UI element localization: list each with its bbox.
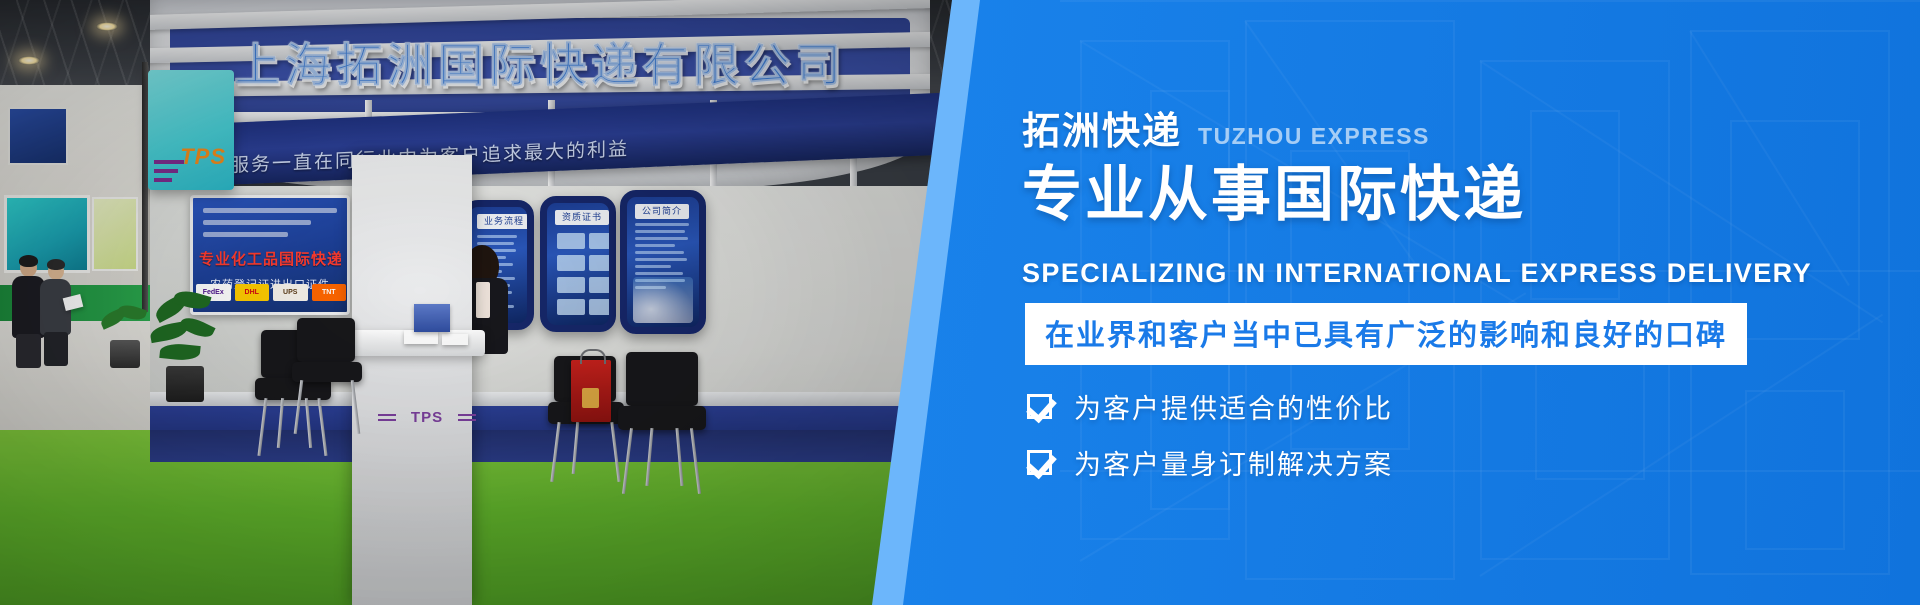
bullet-label: 为客户提供适合的性价比: [1074, 387, 1393, 426]
poster-title: 资质证书: [555, 210, 609, 225]
tps-standee-banner: TPS: [148, 70, 234, 190]
hero-banner: 上海拓洲国际快递有限公司 服务一直在同行业中为客户追求最大的利益 专业化工品国际…: [0, 0, 1920, 605]
booth-poster: 资质证书: [540, 196, 616, 332]
subheadline-en: SPECIALIZING IN INTERNATIONAL EXPRESS DE…: [1022, 258, 1812, 289]
tps-logo-text: TPS: [180, 144, 226, 170]
ceiling-light-icon: [96, 22, 118, 31]
checkbox-checked-icon: [1027, 394, 1052, 419]
neighbour-panel: [8, 107, 68, 165]
poster-title: 业务流程: [477, 214, 531, 229]
list-item: 为客户提供适合的性价比: [1027, 378, 1393, 434]
reception-counter: [352, 155, 472, 605]
brochure-stack: [404, 330, 438, 344]
booth-company-sign: 上海拓洲国际快递有限公司: [150, 22, 930, 102]
brand-name-en: TUZHOU EXPRESS: [1198, 125, 1430, 151]
booth-poster: 公司简介: [620, 190, 706, 334]
checkbox-checked-icon: [1027, 450, 1052, 475]
bullet-label: 为客户量身订制解决方案: [1074, 443, 1393, 482]
headline-cn: 专业从事国际快递: [1022, 163, 1526, 226]
feature-bullet-list: 为客户提供适合的性价比 为客户量身订制解决方案: [1027, 378, 1393, 490]
potted-plant: [150, 290, 220, 410]
booth-photograph: 上海拓洲国际快递有限公司 服务一直在同行业中为客户追求最大的利益 专业化工品国际…: [0, 0, 1000, 605]
poster-map-graphic: [633, 277, 693, 323]
list-item: 为客户量身订制解决方案: [1027, 434, 1393, 490]
person-visitor: [38, 262, 78, 366]
chair: [292, 318, 366, 440]
brand-name-cn: 拓洲快递: [1022, 113, 1182, 151]
gift-bag-emblem: [582, 388, 599, 408]
brand-row: 拓洲快递 TUZHOU EXPRESS: [1022, 113, 1430, 151]
tagline-ribbon: 在业界和客户当中已具有广泛的影响和良好的口碑: [1025, 303, 1747, 365]
tnt-logo: TNT: [312, 284, 347, 301]
dhl-logo: DHL: [235, 284, 270, 301]
red-gift-bag: [571, 360, 611, 422]
potted-plant: [98, 306, 154, 386]
banner-copy-block: 拓洲快递 TUZHOU EXPRESS 专业从事国际快递 SPECIALIZIN…: [1022, 0, 1902, 605]
poster-title: 公司简介: [635, 204, 689, 219]
collection-box: [414, 304, 450, 332]
ceiling-light-icon: [18, 56, 40, 65]
board-headline: 专业化工品国际快递: [199, 248, 341, 268]
chair: [618, 352, 710, 497]
counter-tps-logo: TPS: [392, 405, 462, 429]
tagline-text: 在业界和客户当中已具有广泛的影响和良好的口碑: [1045, 320, 1727, 352]
ups-logo: UPS: [273, 284, 308, 301]
neighbour-panel: [92, 197, 138, 271]
brochure-stack: [442, 334, 468, 345]
